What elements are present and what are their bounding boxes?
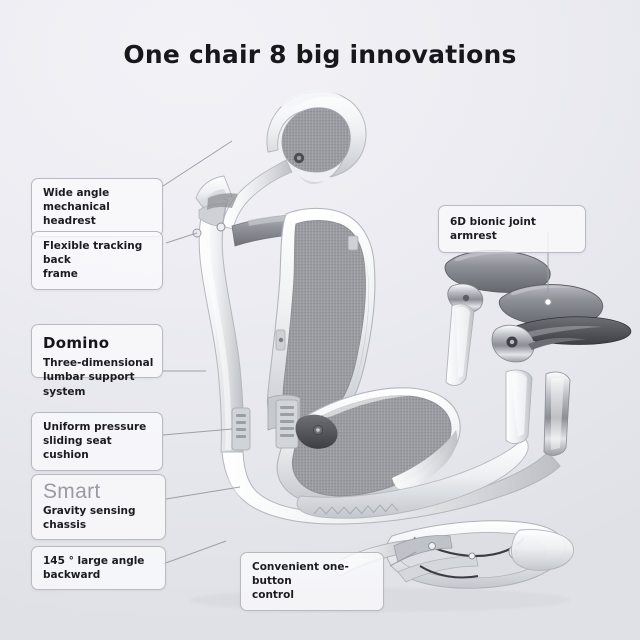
callout-line-2: headrest (43, 214, 153, 228)
callout-heading: Domino (43, 333, 153, 353)
callout-line-1: 6D bionic joint armrest (450, 215, 576, 243)
callout-line-1: 145 ° large angle (43, 554, 156, 568)
callout-line-1: Flexible tracking back (43, 239, 153, 267)
armrest-lower-part (492, 284, 631, 455)
callout-line-1: Convenient one-button (252, 560, 374, 588)
callout-smart-gravity-sensing-chassis[interactable]: Smart Gravity sensing chassis (31, 474, 166, 540)
callout-6d-bionic-joint-armrest[interactable]: 6D bionic joint armrest (438, 205, 586, 253)
headrest-part (222, 90, 366, 229)
callout-domino-lumbar-support[interactable]: Domino Three-dimensional lumbar support … (31, 324, 163, 378)
page-title: One chair 8 big innovations (0, 40, 640, 69)
callout-line-1: Gravity sensing chassis (43, 504, 156, 532)
callout-uniform-pressure-sliding-seat-cushion[interactable]: Uniform pressure sliding seat cushion (31, 412, 163, 471)
callout-line-1: Three-dimensional (43, 356, 153, 370)
callout-line-1: Uniform pressure (43, 420, 153, 434)
callout-line-2: control (252, 588, 374, 602)
callout-heading: Smart (43, 481, 156, 503)
callout-line-2: backward (43, 568, 156, 582)
callout-convenient-one-button-control[interactable]: Convenient one-button control (240, 552, 384, 611)
callout-line-1: Wide angle mechanical (43, 186, 153, 214)
infographic-canvas: One chair 8 big innovations Wide angle m… (0, 0, 640, 640)
callout-flexible-tracking-back-frame[interactable]: Flexible tracking back frame (31, 231, 163, 290)
callout-line-2: frame (43, 267, 153, 281)
callout-line-3: system (43, 385, 153, 399)
product-illustration (0, 0, 640, 640)
callout-line-2: sliding seat cushion (43, 434, 153, 462)
callout-large-angle-backward[interactable]: 145 ° large angle backward (31, 546, 166, 590)
callout-wide-angle-mechanical-headrest[interactable]: Wide angle mechanical headrest (31, 178, 163, 237)
callout-line-2: lumbar support (43, 370, 153, 384)
